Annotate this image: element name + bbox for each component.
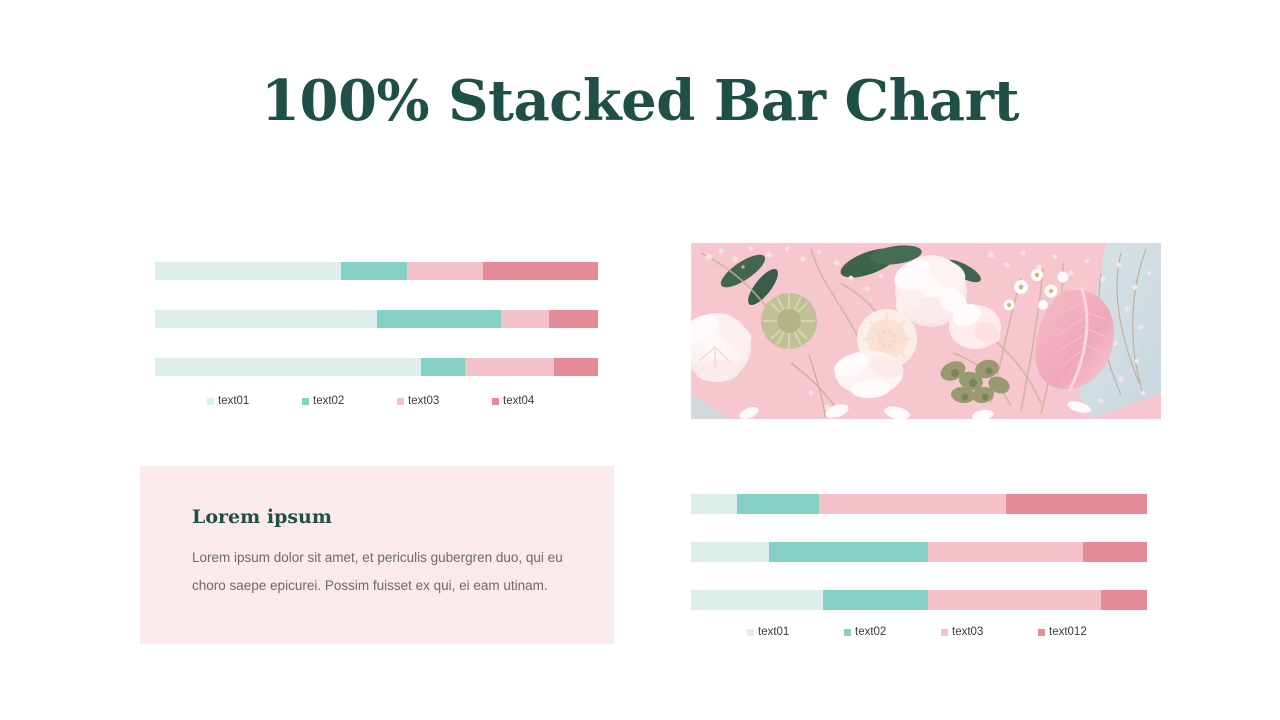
chart-legend-left: text01text02text03text04	[207, 395, 587, 407]
bar-segment-text012	[1083, 542, 1147, 562]
bar-segment-text02	[823, 590, 928, 610]
legend-item-text012: text012	[1038, 626, 1135, 638]
bar-segment-text01	[691, 494, 737, 514]
bar-segment-text01	[691, 590, 823, 610]
legend-item-text01: text01	[747, 626, 844, 638]
legend-swatch-icon	[844, 629, 851, 636]
bar-row	[691, 542, 1147, 562]
legend-swatch-icon	[397, 398, 404, 405]
lorem-text-card: Lorem ipsum Lorem ipsum dolor sit amet, …	[140, 466, 614, 644]
bar-segment-text02	[341, 262, 407, 280]
legend-item-text03: text03	[397, 395, 492, 407]
legend-label: text02	[855, 626, 886, 638]
bar-segment-text04	[483, 262, 598, 280]
bar-row	[155, 358, 598, 376]
bar-segment-text02	[737, 494, 819, 514]
legend-item-text03: text03	[941, 626, 1038, 638]
chart-legend-right: text01text02text03text012	[747, 626, 1135, 638]
bar-row	[691, 494, 1147, 514]
bar-segment-text01	[691, 542, 769, 562]
bar-segment-text03	[465, 358, 554, 376]
legend-swatch-icon	[941, 629, 948, 636]
bar-segment-text012	[1101, 590, 1147, 610]
bar-segment-text03	[501, 310, 550, 328]
legend-swatch-icon	[492, 398, 499, 405]
stacked-bar-chart-left	[155, 262, 598, 376]
card-body-text: Lorem ipsum dolor sit amet, et periculis…	[192, 544, 572, 600]
bar-segment-text02	[769, 542, 929, 562]
legend-item-text02: text02	[844, 626, 941, 638]
legend-item-text04: text04	[492, 395, 587, 407]
bar-segment-text02	[421, 358, 465, 376]
stacked-bar-chart-right	[691, 494, 1147, 610]
legend-swatch-icon	[207, 398, 214, 405]
legend-label: text02	[313, 395, 344, 407]
card-heading: Lorem ipsum	[192, 506, 576, 528]
bar-row	[155, 262, 598, 280]
bar-segment-text01	[155, 310, 377, 328]
bar-row	[155, 310, 598, 328]
bar-segment-text01	[155, 262, 341, 280]
legend-label: text03	[408, 395, 439, 407]
page-title: 100% Stacked Bar Chart	[0, 68, 1280, 134]
bar-segment-text012	[1006, 494, 1147, 514]
legend-swatch-icon	[1038, 629, 1045, 636]
bar-row	[691, 590, 1147, 610]
bar-segment-text03	[819, 494, 1006, 514]
legend-swatch-icon	[747, 629, 754, 636]
bar-segment-text02	[377, 310, 501, 328]
legend-label: text03	[952, 626, 983, 638]
legend-label: text01	[758, 626, 789, 638]
legend-item-text01: text01	[207, 395, 302, 407]
bar-segment-text01	[155, 358, 421, 376]
legend-swatch-icon	[302, 398, 309, 405]
legend-label: text012	[1049, 626, 1087, 638]
bar-segment-text04	[554, 358, 598, 376]
legend-item-text02: text02	[302, 395, 397, 407]
bar-segment-text03	[407, 262, 482, 280]
legend-label: text01	[218, 395, 249, 407]
bar-segment-text03	[928, 542, 1083, 562]
bar-segment-text03	[928, 590, 1101, 610]
flowers-flat-lay-photo	[691, 243, 1161, 419]
bar-segment-text04	[549, 310, 598, 328]
legend-label: text04	[503, 395, 534, 407]
slide-canvas: 100% Stacked Bar Chart text01text02text0…	[0, 0, 1280, 720]
flowers-photo-illustration	[691, 243, 1161, 419]
